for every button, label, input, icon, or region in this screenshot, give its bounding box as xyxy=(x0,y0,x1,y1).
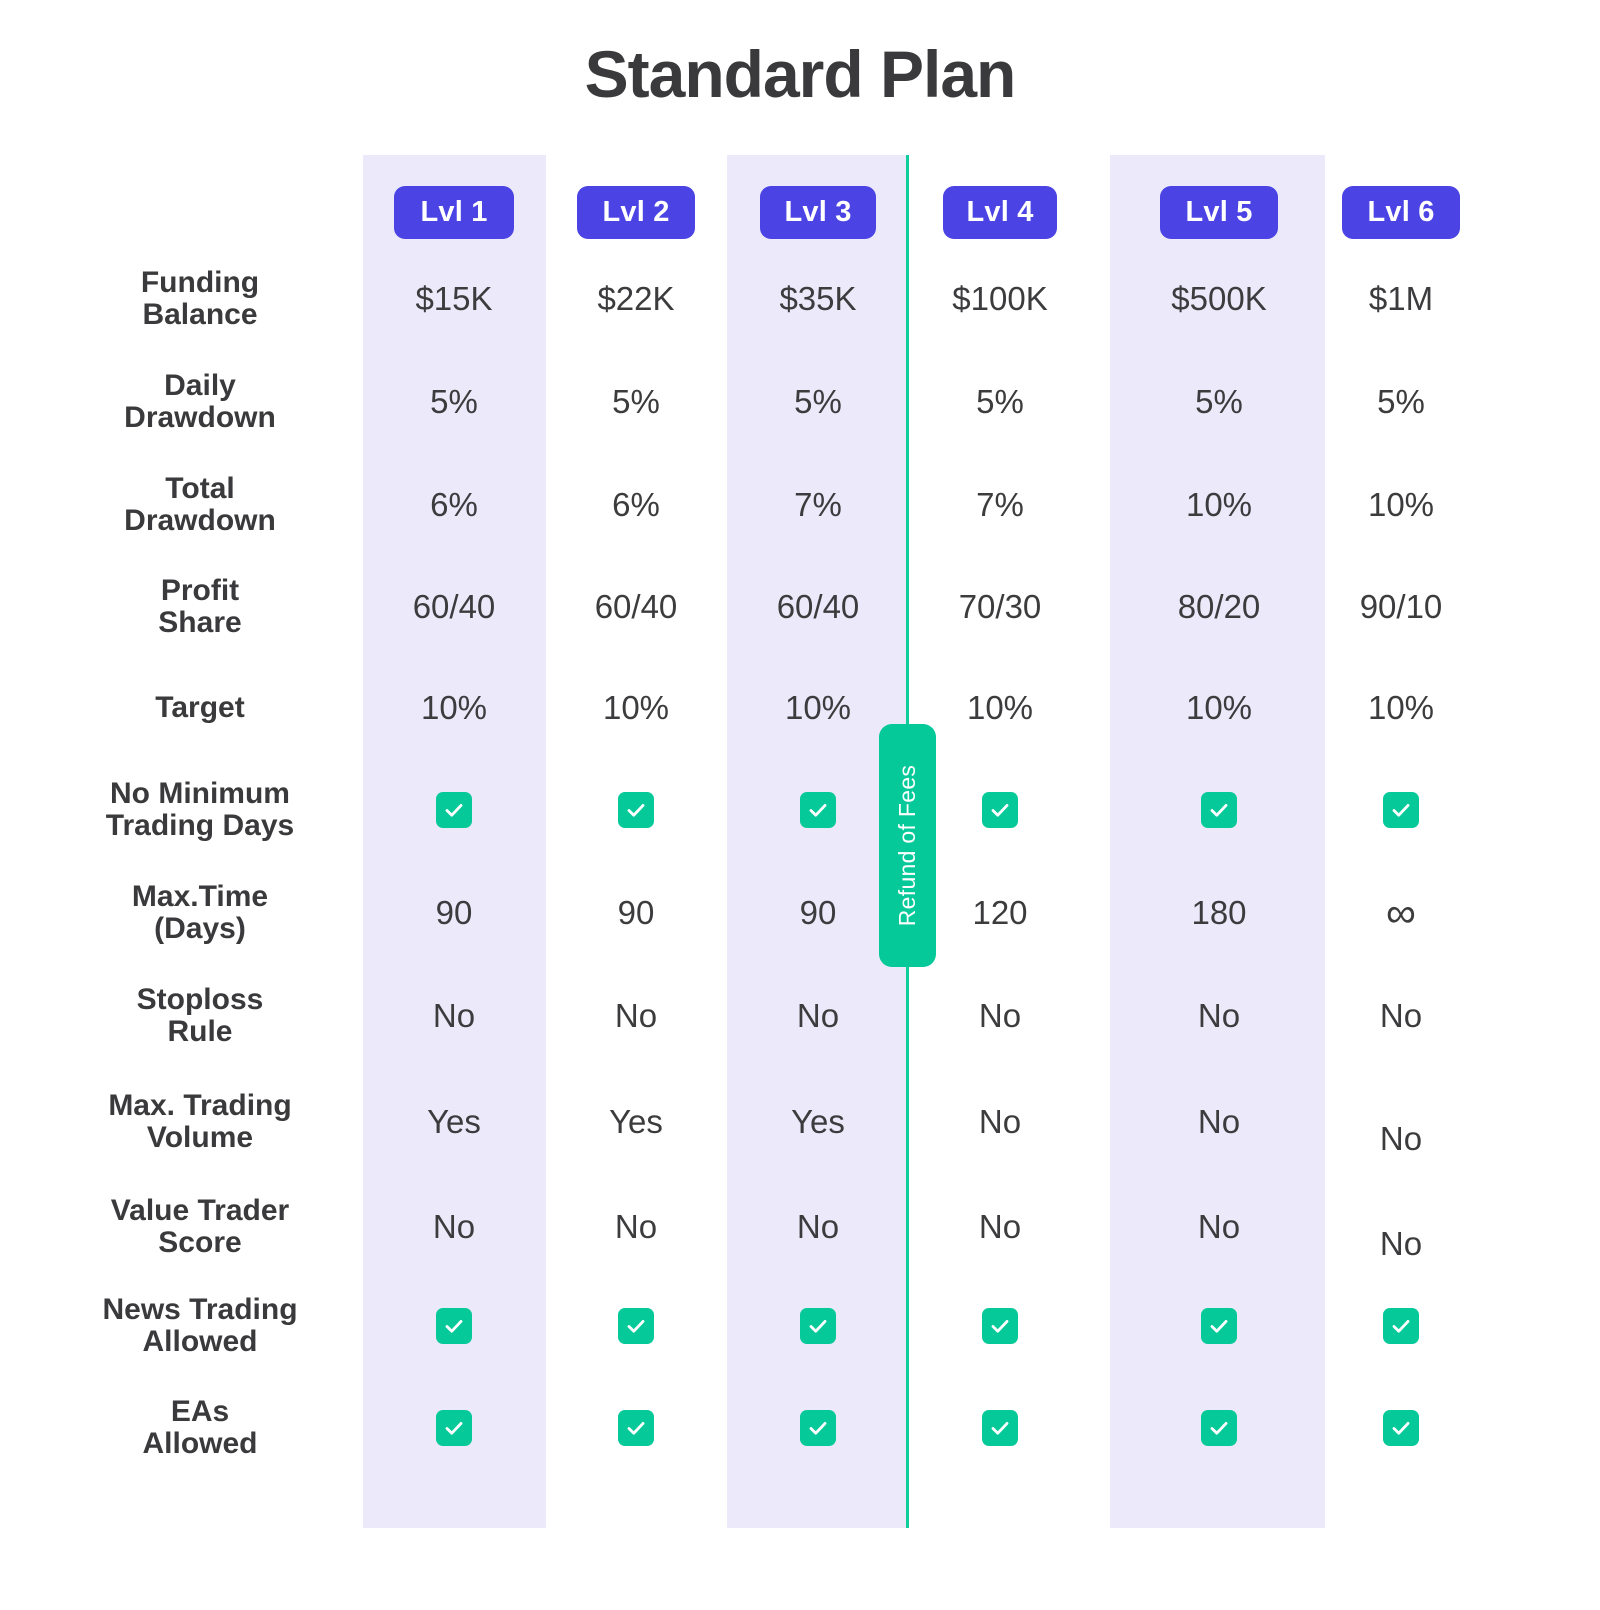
check-icon xyxy=(618,1410,654,1446)
cell-r7-c2: 90 xyxy=(556,894,716,932)
cell-r7-c4: 120 xyxy=(920,894,1080,932)
cell-r4-c2: 60/40 xyxy=(556,588,716,626)
cell-r1-c5: $500K xyxy=(1139,280,1299,318)
cell-r5-c5: 10% xyxy=(1139,689,1299,727)
level-badge-3[interactable]: Lvl 3 xyxy=(760,186,876,239)
cell-r1-c4: $100K xyxy=(920,280,1080,318)
level-badge-1[interactable]: Lvl 1 xyxy=(394,186,514,239)
row-label-2: DailyDrawdown xyxy=(30,370,370,434)
cell-r3-c1: 6% xyxy=(374,486,534,524)
cell-r5-c6: 10% xyxy=(1321,689,1481,727)
cell-r9-c4: No xyxy=(920,1103,1080,1141)
check-icon xyxy=(436,1308,472,1344)
check-icon xyxy=(982,1308,1018,1344)
cell-r7-c3: 90 xyxy=(738,894,898,932)
cell-r8-c5: No xyxy=(1139,997,1299,1035)
row-label-10: Value TraderScore xyxy=(30,1195,370,1259)
cell-r9-c1: Yes xyxy=(374,1103,534,1141)
cell-r1-c3: $35K xyxy=(738,280,898,318)
cell-r1-c6: $1M xyxy=(1321,280,1481,318)
cell-r7-c5: 180 xyxy=(1139,894,1299,932)
cell-r9-c3: Yes xyxy=(738,1103,898,1141)
level-badge-6[interactable]: Lvl 6 xyxy=(1342,186,1460,239)
page-title: Standard Plan xyxy=(0,36,1600,112)
check-icon xyxy=(1201,792,1237,828)
check-icon xyxy=(1383,792,1419,828)
row-label-7: Max.Time(Days) xyxy=(30,881,370,945)
cell-r5-c4: 10% xyxy=(920,689,1080,727)
level-badge-2[interactable]: Lvl 2 xyxy=(577,186,695,239)
row-label-11: News TradingAllowed xyxy=(30,1294,370,1358)
check-icon xyxy=(1383,1410,1419,1446)
cell-r9-c2: Yes xyxy=(556,1103,716,1141)
check-icon xyxy=(436,792,472,828)
cell-r1-c2: $22K xyxy=(556,280,716,318)
cell-r8-c6: No xyxy=(1321,997,1481,1035)
cell-r5-c1: 10% xyxy=(374,689,534,727)
cell-r4-c5: 80/20 xyxy=(1139,588,1299,626)
cell-r4-c3: 60/40 xyxy=(738,588,898,626)
level-badge-5[interactable]: Lvl 5 xyxy=(1160,186,1278,239)
cell-r10-c6: No xyxy=(1321,1225,1481,1263)
cell-r7-c1: 90 xyxy=(374,894,534,932)
cell-r2-c1: 5% xyxy=(374,383,534,421)
cell-r9-c6: No xyxy=(1321,1120,1481,1158)
check-icon xyxy=(800,792,836,828)
check-icon xyxy=(1201,1410,1237,1446)
cell-r10-c4: No xyxy=(920,1208,1080,1246)
cell-r5-c2: 10% xyxy=(556,689,716,727)
row-label-12: EAsAllowed xyxy=(30,1396,370,1460)
cell-r10-c2: No xyxy=(556,1208,716,1246)
cell-r4-c1: 60/40 xyxy=(374,588,534,626)
refund-of-fees-badge: Refund of Fees xyxy=(879,724,936,967)
cell-r4-c4: 70/30 xyxy=(920,588,1080,626)
cell-r2-c5: 5% xyxy=(1139,383,1299,421)
cell-r3-c3: 7% xyxy=(738,486,898,524)
level-badge-4[interactable]: Lvl 4 xyxy=(943,186,1057,239)
cell-r2-c4: 5% xyxy=(920,383,1080,421)
row-label-1: FundingBalance xyxy=(30,267,370,331)
cell-r2-c2: 5% xyxy=(556,383,716,421)
row-label-8: StoplossRule xyxy=(30,984,370,1048)
cell-r3-c2: 6% xyxy=(556,486,716,524)
cell-r4-c6: 90/10 xyxy=(1321,588,1481,626)
check-icon xyxy=(982,1410,1018,1446)
check-icon xyxy=(436,1410,472,1446)
cell-r10-c5: No xyxy=(1139,1208,1299,1246)
cell-r8-c1: No xyxy=(374,997,534,1035)
cell-r8-c3: No xyxy=(738,997,898,1035)
check-icon xyxy=(800,1308,836,1344)
cell-r5-c3: 10% xyxy=(738,689,898,727)
cell-r7-c6: ∞ xyxy=(1321,889,1481,937)
cell-r3-c5: 10% xyxy=(1139,486,1299,524)
check-icon xyxy=(1201,1308,1237,1344)
row-label-4: ProfitShare xyxy=(30,575,370,639)
cell-r1-c1: $15K xyxy=(374,280,534,318)
row-label-5: Target xyxy=(30,692,370,724)
cell-r3-c4: 7% xyxy=(920,486,1080,524)
cell-r10-c3: No xyxy=(738,1208,898,1246)
row-label-3: TotalDrawdown xyxy=(30,473,370,537)
cell-r9-c5: No xyxy=(1139,1103,1299,1141)
row-label-9: Max. TradingVolume xyxy=(30,1090,370,1154)
pricing-table-canvas: Standard Plan Lvl 1Lvl 2Lvl 3Lvl 4Lvl 5L… xyxy=(0,0,1600,1610)
row-label-6: No MinimumTrading Days xyxy=(30,778,370,842)
cell-r3-c6: 10% xyxy=(1321,486,1481,524)
cell-r2-c3: 5% xyxy=(738,383,898,421)
cell-r8-c2: No xyxy=(556,997,716,1035)
check-icon xyxy=(800,1410,836,1446)
refund-of-fees-label: Refund of Fees xyxy=(894,765,921,926)
check-icon xyxy=(982,792,1018,828)
cell-r2-c6: 5% xyxy=(1321,383,1481,421)
check-icon xyxy=(618,792,654,828)
cell-r8-c4: No xyxy=(920,997,1080,1035)
check-icon xyxy=(1383,1308,1419,1344)
cell-r10-c1: No xyxy=(374,1208,534,1246)
check-icon xyxy=(618,1308,654,1344)
